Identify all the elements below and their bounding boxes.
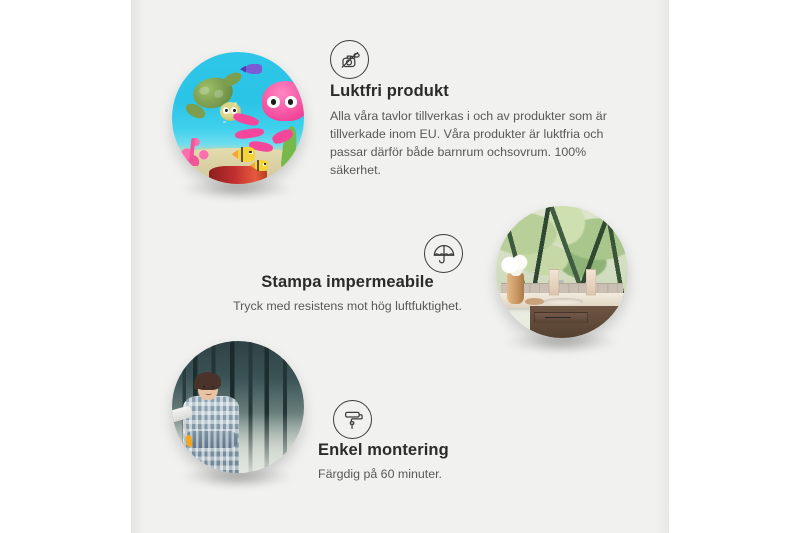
feature-image-painter: [172, 341, 304, 473]
fish-eye: [263, 163, 266, 166]
feature-image-bathroom: [496, 206, 628, 338]
sea-fish-purple: [245, 64, 262, 75]
feature-text-odour-free: Luktfri produkt Alla våra tavlor tillver…: [330, 81, 630, 180]
painter-hair: [195, 372, 221, 390]
underwater-kids-illustration: [172, 52, 304, 184]
sea-bubble: [223, 121, 226, 124]
feature-description: Färgdig på 60 minuter.: [318, 466, 588, 484]
product-feature-banner: Luktfri produkt Alla våra tavlor tillver…: [0, 0, 800, 533]
octopus-eye: [267, 96, 279, 108]
octopus-eye: [285, 96, 297, 108]
sea-coral: [180, 126, 214, 166]
feature-text-waterproof-print: Stampa impermeabile Tryck med resistens …: [220, 272, 475, 316]
bath-sink: [544, 298, 584, 305]
sea-octopus: [262, 81, 304, 121]
feature-image-underwater: [172, 52, 304, 184]
bathroom-vanity-tropical-wallpaper: [496, 206, 628, 338]
bath-soap-tray: [525, 298, 543, 305]
woman-painter-forest-mural: [172, 341, 304, 473]
sea-fish-yellow: [254, 160, 269, 171]
bath-vase: [507, 272, 524, 304]
sea-fish-yellow: [237, 147, 255, 162]
feature-title: Luktfri produkt: [330, 81, 630, 102]
bath-cabinet: [530, 306, 628, 338]
bath-flowers: [500, 254, 532, 276]
painter-figure: [177, 370, 246, 473]
feature-title: Enkel montering: [318, 440, 588, 461]
cabinet-handle: [616, 310, 620, 331]
no-spray-bottle-icon: [330, 40, 369, 79]
bath-candle: [586, 269, 597, 295]
feature-description: Alla våra tavlor tillverkas i och av pro…: [330, 108, 612, 180]
fish-eye: [249, 151, 253, 155]
octopus-tentacle: [232, 112, 260, 128]
octopus-tentacle: [235, 127, 265, 140]
umbrella-icon: [424, 234, 463, 273]
fish-stripe: [241, 147, 244, 162]
paint-roller-icon: [333, 400, 372, 439]
feature-description: Tryck med resistens mot hög luftfuktighe…: [220, 298, 475, 316]
sea-bubble: [227, 110, 231, 114]
feature-title: Stampa impermeabile: [220, 272, 475, 293]
bath-candle: [549, 269, 560, 295]
feature-text-easy-installation: Enkel montering Färgdig på 60 minuter.: [318, 440, 588, 484]
fish-stripe: [257, 160, 259, 171]
